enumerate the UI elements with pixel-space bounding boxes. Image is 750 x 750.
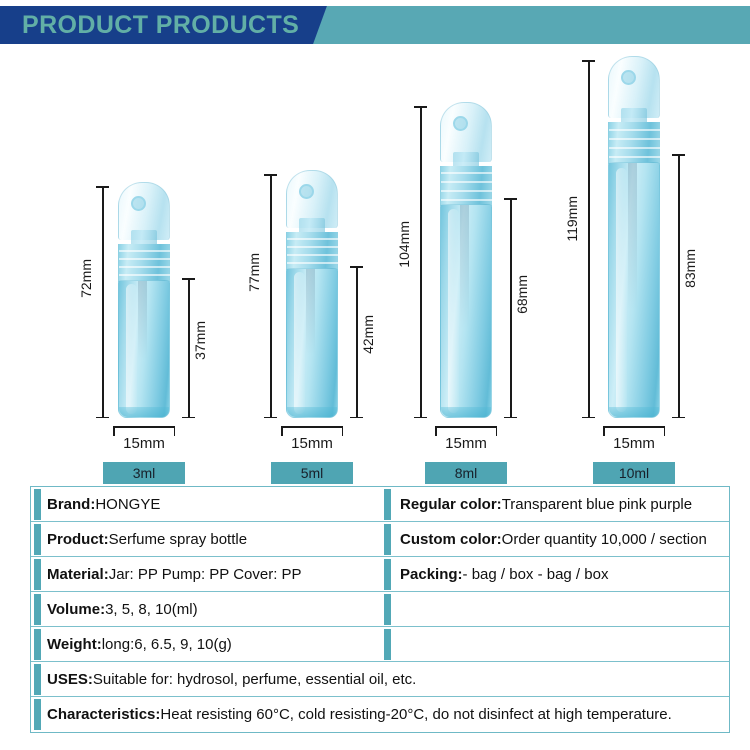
body-highlight — [294, 272, 305, 414]
dimension-body-height-label-8ml: 68mm — [514, 275, 530, 314]
bottle-lineup: 72mm 37mm 15mm 3ml — [0, 44, 750, 484]
dimension-total-height-label-8ml: 104mm — [396, 221, 412, 268]
dimension-width-label-10ml: 15mm — [613, 435, 655, 452]
volume-badge-3ml: 3ml — [103, 462, 185, 484]
row-accent-bar — [34, 594, 41, 625]
dimension-total-height-8ml — [414, 106, 427, 418]
nozzle-hole-icon — [299, 184, 314, 199]
dimension-width-label-8ml: 15mm — [445, 435, 487, 452]
spec-cell-volume: Volume: 3, 5, 8, 10(ml) — [31, 592, 384, 626]
spec-key-volume: Volume: — [47, 601, 105, 618]
dip-tube — [628, 163, 637, 310]
dimension-width-label-3ml: 15mm — [123, 435, 165, 452]
spec-key-regular-color: Regular color: — [400, 496, 502, 513]
bottle-illustration-3ml — [118, 182, 170, 418]
row-accent-bar — [384, 559, 391, 590]
bottle-group-10ml: 119mm 83mm 15mm 10ml — [560, 44, 720, 484]
spec-cell-packing: Packing: - bag / box - bag / box — [384, 557, 729, 591]
dimension-body-height-label-5ml: 42mm — [360, 315, 376, 354]
volume-badge-label-5ml: 5ml — [301, 465, 324, 481]
dimension-total-height-10ml — [582, 60, 595, 418]
body-highlight — [126, 284, 137, 415]
dimension-body-height-label-10ml: 83mm — [682, 249, 698, 288]
bottle-group-3ml: 72mm 37mm 15mm 3ml — [80, 44, 220, 484]
dimension-width-label-5ml: 15mm — [291, 435, 333, 452]
nozzle-hole-icon — [453, 116, 468, 131]
specification-table: Brand: HONGYE Regular color: Transparent… — [30, 486, 730, 733]
bottle-base — [119, 407, 170, 417]
row-accent-bar — [384, 594, 391, 625]
spec-key-characteristics: Characteristics: — [47, 706, 160, 723]
spec-value-weight: long:6, 6.5, 9, 10(g) — [102, 636, 232, 653]
dimension-width-10ml: 15mm — [603, 426, 665, 436]
spec-cell-uses: USES: Suitable for: hydrosol, perfume, e… — [31, 662, 729, 696]
dimension-total-height-label-3ml: 72mm — [78, 259, 94, 298]
collar-rings — [287, 232, 339, 270]
volume-badge-label-10ml: 10ml — [619, 465, 649, 481]
bottle-base — [441, 407, 492, 417]
bottle-body-5ml — [286, 268, 338, 418]
row-accent-bar — [34, 629, 41, 660]
volume-badge-8ml: 8ml — [425, 462, 507, 484]
collar-rings — [441, 166, 493, 206]
bottle-illustration-8ml — [440, 102, 492, 418]
spec-key-packing: Packing: — [400, 566, 463, 583]
spec-value-custom-color: Order quantity 10,000 / section — [502, 531, 707, 548]
spec-cell-empty-1 — [384, 592, 729, 626]
dimension-width-3ml: 15mm — [113, 426, 175, 436]
spec-value-brand: HONGYE — [95, 496, 160, 513]
spec-key-material: Material: — [47, 566, 109, 583]
table-row: Weight: long:6, 6.5, 9, 10(g) — [31, 627, 729, 662]
spec-value-regular-color: Transparent blue pink purple — [502, 496, 692, 513]
spec-cell-regular-color: Regular color: Transparent blue pink pur… — [384, 487, 729, 521]
header-banner: PRODUCT PRODUCTS — [0, 6, 750, 44]
spec-value-uses: Suitable for: hydrosol, perfume, essenti… — [93, 671, 417, 688]
row-accent-bar — [34, 489, 41, 520]
spec-key-weight: Weight: — [47, 636, 102, 653]
row-accent-bar — [34, 664, 41, 695]
bottle-illustration-10ml — [608, 56, 660, 418]
row-accent-bar — [384, 629, 391, 660]
dip-tube — [460, 205, 469, 328]
table-row: USES: Suitable for: hydrosol, perfume, e… — [31, 662, 729, 697]
dip-tube — [306, 269, 315, 355]
spec-value-packing: - bag / box - bag / box — [463, 566, 609, 583]
spec-cell-material: Material: Jar: PP Pump: PP Cover: PP — [31, 557, 384, 591]
spec-cell-empty-2 — [384, 627, 729, 661]
spec-value-material: Jar: PP Pump: PP Cover: PP — [109, 566, 302, 583]
ribbed-collar-10ml — [608, 122, 660, 164]
spec-value-product: Serfume spray bottle — [109, 531, 247, 548]
volume-badge-label-8ml: 8ml — [455, 465, 478, 481]
bottle-group-8ml: 104mm 68mm 15mm 8ml — [398, 44, 548, 484]
spec-cell-product: Product: Serfume spray bottle — [31, 522, 384, 556]
spec-cell-characteristics: Characteristics: Heat resisting 60°C, co… — [31, 697, 729, 732]
dip-tube — [138, 281, 147, 360]
dimension-width-8ml: 15mm — [435, 426, 497, 436]
bottle-base — [287, 407, 338, 417]
dimension-width-5ml: 15mm — [281, 426, 343, 436]
spec-cell-weight: Weight: long:6, 6.5, 9, 10(g) — [31, 627, 384, 661]
dimension-total-height-3ml — [96, 186, 109, 418]
spec-key-custom-color: Custom color: — [400, 531, 502, 548]
spec-key-uses: USES: — [47, 671, 93, 688]
row-accent-bar — [384, 489, 391, 520]
spec-cell-brand: Brand: HONGYE — [31, 487, 384, 521]
collar-rings — [609, 122, 661, 164]
table-row: Product: Serfume spray bottle Custom col… — [31, 522, 729, 557]
ribbed-collar-8ml — [440, 166, 492, 206]
volume-badge-10ml: 10ml — [593, 462, 675, 484]
bottle-body-10ml — [608, 162, 660, 418]
banner-teal-skew — [290, 6, 750, 44]
row-accent-bar — [34, 559, 41, 590]
ribbed-collar-3ml — [118, 244, 170, 282]
table-row: Volume: 3, 5, 8, 10(ml) — [31, 592, 729, 627]
row-accent-bar — [34, 699, 41, 730]
ribbed-collar-5ml — [286, 232, 338, 270]
table-row: Brand: HONGYE Regular color: Transparent… — [31, 487, 729, 522]
nozzle-hole-icon — [621, 70, 636, 85]
table-row: Material: Jar: PP Pump: PP Cover: PP Pac… — [31, 557, 729, 592]
spec-cell-custom-color: Custom color: Order quantity 10,000 / se… — [384, 522, 729, 556]
bottle-body-8ml — [440, 204, 492, 418]
volume-badge-label-3ml: 3ml — [133, 465, 156, 481]
nozzle-hole-icon — [131, 196, 146, 211]
dimension-body-height-label-3ml: 37mm — [192, 321, 208, 360]
spec-key-product: Product: — [47, 531, 109, 548]
bottle-illustration-5ml — [286, 170, 338, 418]
dimension-total-height-label-10ml: 119mm — [564, 196, 580, 242]
body-highlight — [448, 209, 459, 413]
dimension-total-height-label-5ml: 77mm — [246, 253, 262, 292]
row-accent-bar — [34, 524, 41, 555]
volume-badge-5ml: 5ml — [271, 462, 353, 484]
body-highlight — [616, 168, 627, 412]
dimension-total-height-5ml — [264, 174, 277, 418]
bottle-base — [609, 407, 660, 417]
collar-rings — [119, 244, 171, 282]
table-row: Characteristics: Heat resisting 60°C, co… — [31, 697, 729, 732]
bottle-group-5ml: 77mm 42mm 15mm 5ml — [248, 44, 388, 484]
spec-value-characteristics: Heat resisting 60°C, cold resisting-20°C… — [160, 706, 671, 723]
row-accent-bar — [384, 524, 391, 555]
page-title: PRODUCT PRODUCTS — [22, 6, 299, 44]
product-spec-sheet: PRODUCT PRODUCTS — [0, 0, 750, 750]
spec-value-volume: 3, 5, 8, 10(ml) — [105, 601, 198, 618]
spec-key-brand: Brand: — [47, 496, 95, 513]
bottle-body-3ml — [118, 280, 170, 418]
